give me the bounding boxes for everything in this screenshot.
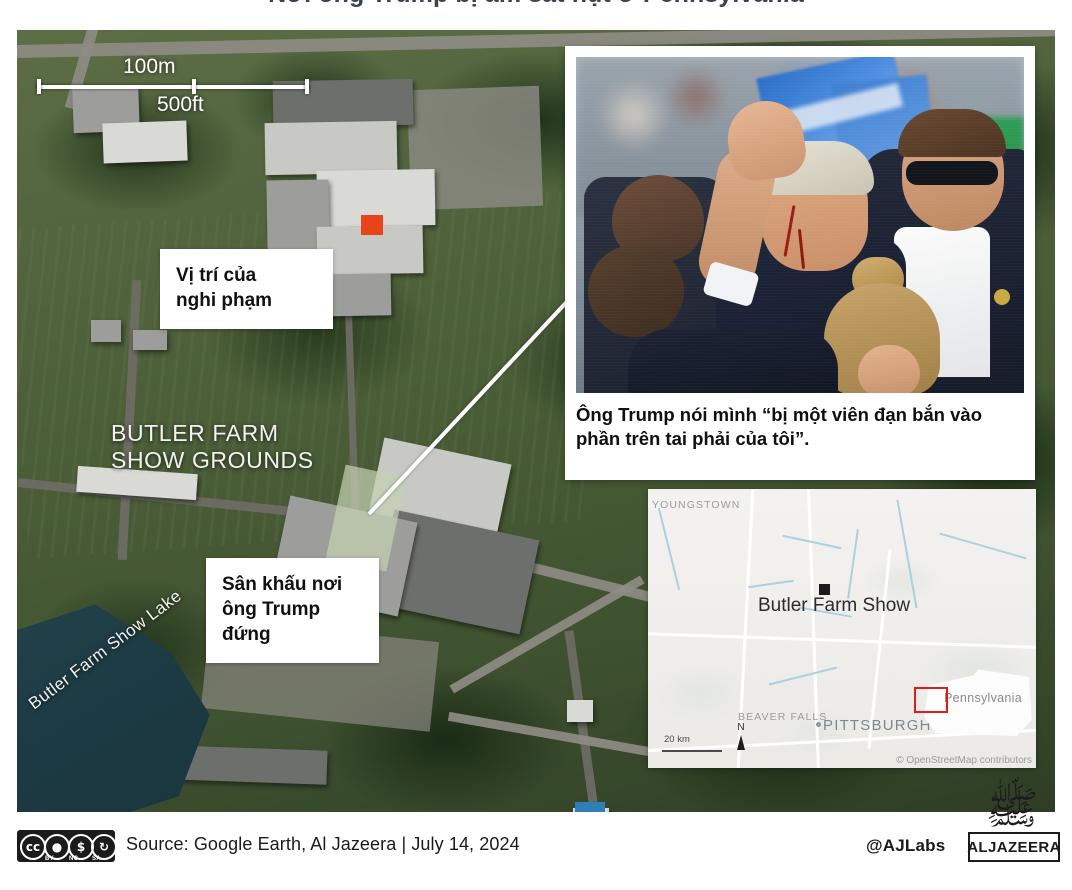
inset-label-youngstown: YOUNGSTOWN: [652, 499, 740, 511]
trump-rally-photo: [576, 57, 1024, 393]
scale-label-metric: 100m: [123, 55, 176, 79]
aljazeera-wordmark: ALJAZEERA: [968, 832, 1060, 862]
openstreetmap-attribution: © OpenStreetMap contributors: [896, 755, 1032, 766]
callout-trump-stage: Sân khấu nơi ông Trump đứng: [206, 558, 379, 663]
inset-scale-line: [662, 750, 722, 752]
headline-strip: Nơi ông Trump bị ám sát hụt ở Pennsylvan…: [0, 0, 1072, 12]
map-scale-bar: 100m 500ft: [37, 54, 317, 116]
photo-caption: Ông Trump nói mình “bị một viên đạn bắn …: [576, 403, 1026, 451]
photo-caption-line-2: phần trên tai phải của tôi”.: [576, 427, 1026, 451]
inset-locator-map[interactable]: YOUNGSTOWN BEAVER FALLS PITTSBURGH Butle…: [648, 489, 1036, 768]
cc-icon: cc: [20, 834, 46, 860]
north-arrow-icon: N: [732, 723, 750, 750]
inset-label-pittsburgh: PITTSBURGH: [823, 717, 932, 734]
inset-label-beaver-falls: BEAVER FALLS: [738, 711, 827, 723]
scale-tick-start: [37, 79, 41, 94]
callout-suspect-line-2: nghi phạm: [176, 288, 319, 313]
aljazeera-calligraphy-logo-icon: ﷺ: [978, 784, 1046, 836]
callout-stage-line-1: Sân khấu nơi: [222, 572, 367, 597]
suspect-position-marker: [361, 215, 383, 235]
scale-tick-end: [305, 79, 309, 94]
page-title: Nơi ông Trump bị ám sát hụt ở Pennsylvan…: [0, 0, 1072, 9]
inset-butler-farm-show-marker: [819, 584, 830, 595]
swimming-pool: [575, 802, 605, 812]
north-label: N: [732, 723, 750, 733]
cc-sa-label: SA: [92, 856, 101, 862]
callout-suspect-position: Vị trí của nghi phạm: [160, 249, 333, 329]
source-attribution: Source: Google Earth, Al Jazeera | July …: [126, 834, 520, 855]
satellite-map-panel[interactable]: 100m 500ft BUTLER FARM SHOW GROUNDS Butl…: [17, 30, 1055, 812]
cc-by-label: BY: [45, 856, 54, 862]
state-name-label: Pennsylvania: [944, 691, 1022, 705]
footer-bar: cc ● $ ↻ BY NC SA Source: Google Earth, …: [0, 812, 1072, 890]
inset-pittsburgh-dot: [816, 722, 821, 727]
location-highlight-box: [914, 687, 948, 713]
aljazeera-brand-text: ALJAZEERA: [967, 839, 1061, 856]
scale-bar-line: [37, 85, 309, 89]
building-center-north: [265, 121, 398, 175]
inset-label-butler-farm-show: Butler Farm Show: [758, 595, 910, 617]
north-arrow-triangle: [737, 735, 745, 750]
building-small-west: [91, 320, 121, 342]
cc-nc-label: NC: [69, 856, 78, 862]
inset-scale-label: 20 km: [664, 734, 690, 745]
building-track: [567, 700, 593, 722]
creative-commons-badge: cc ● $ ↻ BY NC SA: [17, 830, 115, 862]
callout-suspect-line-1: Vị trí của: [176, 263, 319, 288]
scale-label-imperial: 500ft: [157, 93, 204, 117]
building-small-west2: [133, 330, 167, 350]
ajlabs-handle: @AJLabs: [866, 836, 945, 856]
photo-grain-overlay: [576, 57, 1024, 393]
photo-caption-line-1: Ông Trump nói mình “bị một viên đạn bắn …: [576, 403, 1026, 427]
callout-stage-line-3: đứng: [222, 622, 367, 647]
callout-stage-line-2: ông Trump: [222, 597, 367, 622]
scale-tick-mid: [192, 79, 196, 94]
photo-card: Ông Trump nói mình “bị một viên đạn bắn …: [565, 46, 1035, 480]
building-nw2: [102, 121, 187, 164]
